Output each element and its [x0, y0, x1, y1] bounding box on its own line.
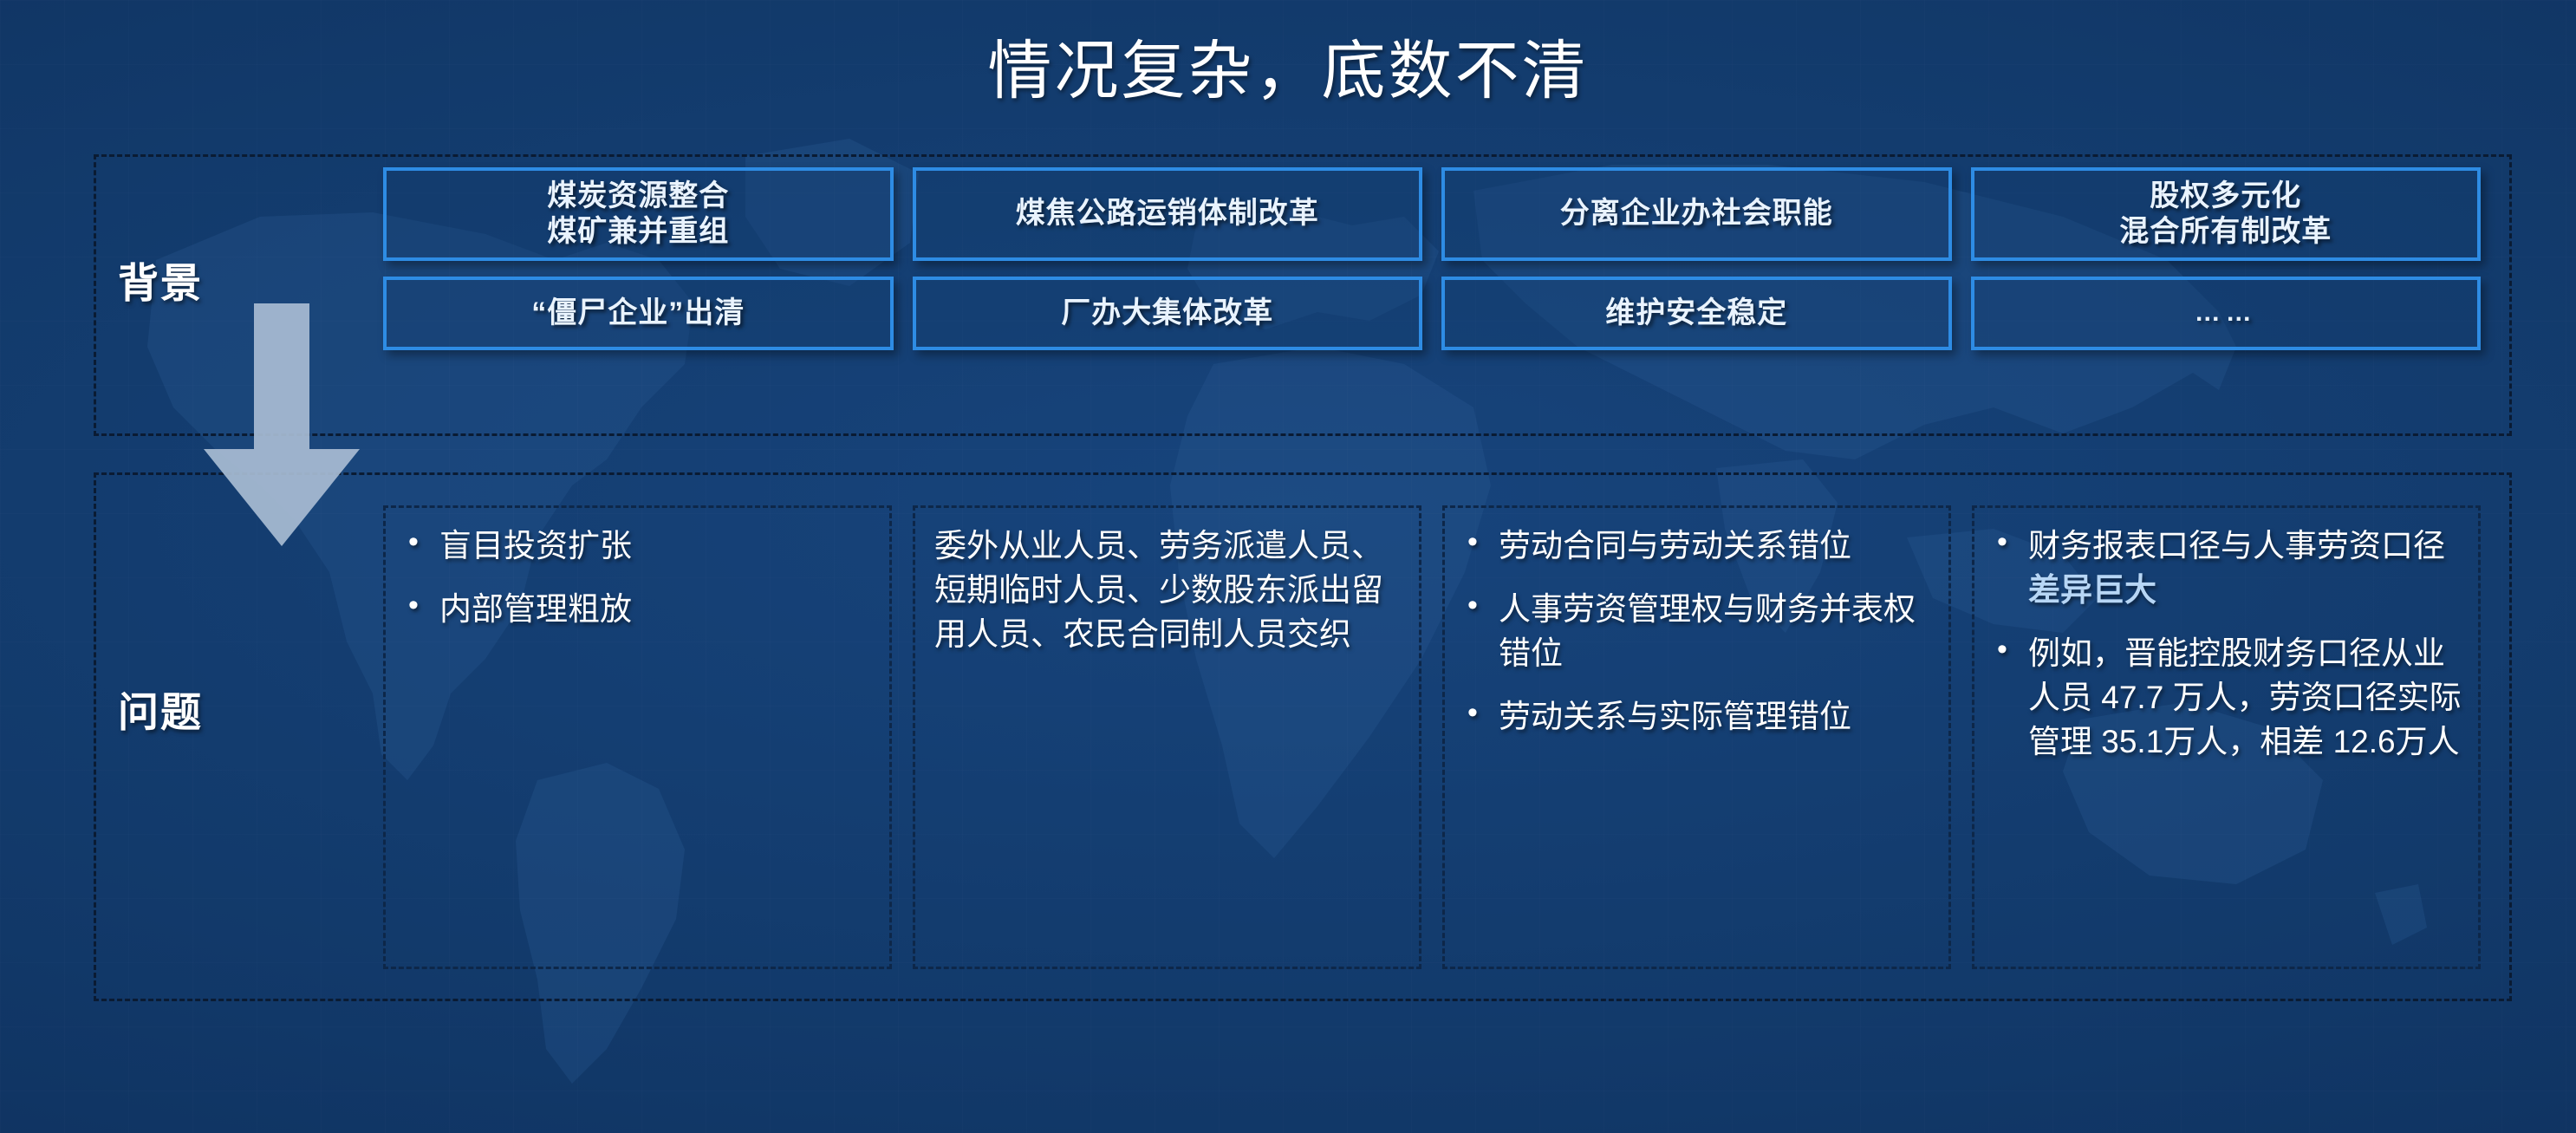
background-topic-box[interactable]: 厂办大集体改革	[913, 277, 1423, 350]
problems-column-4: 财务报表口径与人事劳资口径差异巨大 例如，晋能控股财务口径从业人员 47.7 万…	[1972, 505, 2481, 969]
background-topic-box[interactable]: 煤炭资源整合 煤矿兼并重组	[383, 167, 894, 261]
problems-column-grid: 盲目投资扩张 内部管理粗放 委外从业人员、劳务派遣人员、短期临时人员、少数股东派…	[383, 505, 2481, 969]
list-item: 劳动关系与实际管理错位	[1499, 694, 1933, 739]
list-item: 例如，晋能控股财务口径从业人员 47.7 万人，劳资口径实际管理 35.1万人，…	[2028, 631, 2462, 764]
background-topic-box-ellipsis[interactable]: ……	[1971, 277, 2482, 350]
section-label-problems: 问题	[30, 679, 290, 739]
list-item-text: 财务报表口径与人事劳资口径	[2028, 528, 2445, 563]
problem-paragraph: 委外从业人员、劳务派遣人员、短期临时人员、少数股东派出留用人员、农民合同制人员交…	[927, 524, 1407, 656]
background-topic-box[interactable]: 分离企业办社会职能	[1441, 167, 1952, 261]
background-topic-box[interactable]: 股权多元化 混合所有制改革	[1971, 167, 2482, 261]
background-topic-box[interactable]: 煤焦公路运销体制改革	[913, 167, 1423, 261]
slide-canvas: 情况复杂，底数不清 背景 问题 煤炭资源整合 煤矿兼并重组 煤焦公路运销体制改革…	[0, 0, 2576, 1133]
problems-column-3: 劳动合同与劳动关系错位 人事劳资管理权与财务并表权错位 劳动关系与实际管理错位	[1442, 505, 1951, 969]
list-item: 内部管理粗放	[439, 587, 874, 631]
background-topic-label: 分离企业办社会职能	[1560, 196, 1833, 231]
emphasis-text: 差异巨大	[2028, 572, 2156, 608]
list-item: 劳动合同与劳动关系错位	[1499, 524, 1933, 568]
background-topic-label: 厂办大集体改革	[1061, 296, 1273, 331]
problems-column-1: 盲目投资扩张 内部管理粗放	[383, 505, 892, 969]
background-topic-box[interactable]: 维护安全稳定	[1441, 277, 1952, 350]
problem-list: 劳动合同与劳动关系错位 人事劳资管理权与财务并表权错位 劳动关系与实际管理错位	[1457, 524, 1936, 739]
section-label-background: 背景	[30, 250, 290, 309]
background-topic-box[interactable]: “僵尸企业”出清	[383, 277, 894, 350]
problem-list: 财务报表口径与人事劳资口径差异巨大 例如，晋能控股财务口径从业人员 47.7 万…	[1987, 524, 2466, 764]
background-topic-label: 煤焦公路运销体制改革	[1016, 196, 1319, 231]
background-topic-label: ……	[2195, 297, 2257, 329]
list-item: 人事劳资管理权与财务并表权错位	[1499, 587, 1933, 675]
background-topic-label: 维护安全稳定	[1605, 296, 1787, 331]
page-title: 情况复杂，底数不清	[0, 19, 2576, 112]
background-topic-grid: 煤炭资源整合 煤矿兼并重组 煤焦公路运销体制改革 分离企业办社会职能 股权多元化…	[383, 167, 2481, 350]
problem-list: 盲目投资扩张 内部管理粗放	[398, 524, 877, 631]
list-item-text: 例如，晋能控股财务口径从业人员 47.7 万人，劳资口径实际管理 35.1万人，…	[2028, 635, 2462, 759]
list-item: 财务报表口径与人事劳资口径差异巨大	[2028, 524, 2462, 612]
problems-column-2: 委外从业人员、劳务派遣人员、短期临时人员、少数股东派出留用人员、农民合同制人员交…	[913, 505, 1421, 969]
background-topic-label: “僵尸企业”出清	[531, 296, 745, 331]
background-topic-label: 股权多元化 混合所有制改革	[2119, 179, 2332, 251]
background-topic-label: 煤炭资源整合 煤矿兼并重组	[547, 179, 729, 251]
list-item: 盲目投资扩张	[439, 524, 874, 568]
